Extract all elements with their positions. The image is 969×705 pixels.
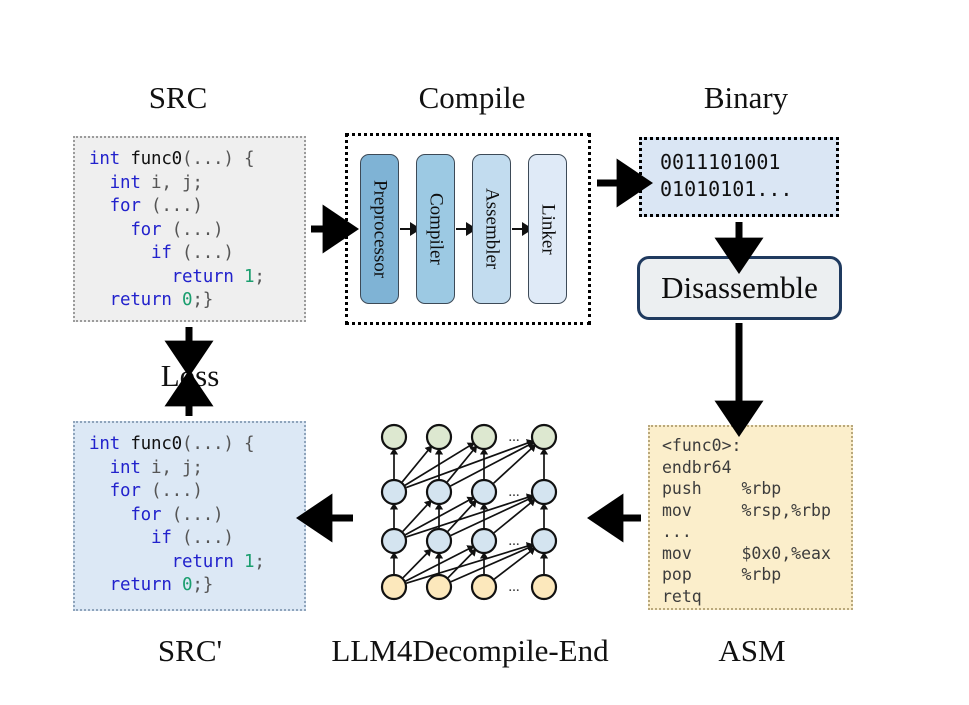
network-node <box>427 529 451 553</box>
src-code-token: int <box>89 149 130 169</box>
src-code-line: return 1; <box>89 266 304 290</box>
src-code-line: for (...) <box>89 195 304 219</box>
src-prime-code-token: 0 <box>182 575 192 595</box>
src-code-token: ; <box>254 267 264 287</box>
src-prime-code-line: for (...) <box>89 504 304 528</box>
src-prime-code-token: if <box>89 528 182 548</box>
src-code-line: int func0(...) { <box>89 148 304 172</box>
src-prime-code-token: (...) { <box>182 434 254 454</box>
compile-pipeline-container: PreprocessorCompilerAssemblerLinker <box>345 133 591 325</box>
src-prime-code-line: int i, j; <box>89 457 304 481</box>
label-binary: Binary <box>676 80 816 116</box>
compile-stage-label: Assembler <box>481 188 503 269</box>
network-edge <box>406 545 529 583</box>
neural-network-diagram: ............ <box>378 421 563 603</box>
network-node <box>427 480 451 504</box>
src-code-token: i, j; <box>151 173 203 193</box>
src-prime-code-token: (...) <box>172 505 224 525</box>
src-prime-code-token: 1 <box>244 552 254 572</box>
asm-line: retq <box>662 586 851 608</box>
asm-line: endbr64 <box>662 457 851 479</box>
src-code-token: (...) <box>172 220 224 240</box>
src-code-token: (...) <box>182 243 234 263</box>
binary-line: 0011101001 <box>660 149 836 176</box>
src-code-token: ;} <box>192 290 213 310</box>
network-ellipsis: ... <box>508 429 519 445</box>
compile-stage-assembler[interactable]: Assembler <box>472 154 511 304</box>
src-prime-code-line: if (...) <box>89 527 304 551</box>
src-code-token: for <box>89 220 172 240</box>
compile-stage-linker[interactable]: Linker <box>528 154 567 304</box>
disassemble-box: Disassemble <box>637 256 842 320</box>
compile-stage-label: Preprocessor <box>369 180 391 278</box>
src-code-line: for (...) <box>89 219 304 243</box>
network-node <box>427 425 451 449</box>
binary-line: 01010101... <box>660 176 836 203</box>
network-edge <box>406 442 530 487</box>
src-code-token: 0 <box>182 290 192 310</box>
src-prime-code-line: for (...) <box>89 480 304 504</box>
src-code-block: int func0(...) { int i, j; for (...) for… <box>73 136 306 322</box>
src-prime-code-token: int <box>89 458 151 478</box>
network-node <box>532 480 556 504</box>
src-code-line: if (...) <box>89 242 304 266</box>
src-code-token: if <box>89 243 182 263</box>
network-node <box>427 575 451 599</box>
asm-line: mov %rsp,%rbp <box>662 500 851 522</box>
asm-line: mov $0x0,%eax <box>662 543 851 565</box>
figure-canvas: SRC Compile Binary int func0(...) { int … <box>0 0 969 705</box>
network-edge <box>403 552 428 578</box>
network-edges <box>394 442 544 583</box>
disassemble-label: Disassemble <box>661 270 818 306</box>
label-compile: Compile <box>402 80 542 116</box>
network-node <box>532 575 556 599</box>
src-code-line: int i, j; <box>89 172 304 196</box>
src-code-token: func0 <box>130 149 182 169</box>
network-edge <box>403 503 429 531</box>
network-node <box>472 575 496 599</box>
network-node <box>472 480 496 504</box>
src-prime-code-token: ;} <box>192 575 213 595</box>
label-src: SRC <box>118 80 238 116</box>
src-code-token: return <box>89 267 244 287</box>
network-edge <box>402 449 429 482</box>
network-edge <box>447 449 474 482</box>
network-node <box>472 425 496 449</box>
src-prime-code-token: return <box>89 552 244 572</box>
src-prime-code-block: int func0(...) { int i, j; for (...) for… <box>73 421 306 611</box>
src-code-token: (...) { <box>182 149 254 169</box>
label-model: LLM4Decompile-End <box>300 633 640 669</box>
src-prime-code-token: (...) <box>182 528 234 548</box>
src-prime-code-token: (...) <box>151 481 203 501</box>
network-node <box>532 425 556 449</box>
src-code-token: return <box>89 290 182 310</box>
network-node <box>382 480 406 504</box>
network-ellipsis: ... <box>508 484 519 500</box>
network-node <box>532 529 556 553</box>
src-prime-code-token: func0 <box>130 434 182 454</box>
binary-block: 001110100101010101... <box>639 137 839 217</box>
src-code-line: return 0;} <box>89 289 304 313</box>
label-loss: Loss <box>130 358 250 394</box>
label-asm: ASM <box>692 633 812 669</box>
network-edge <box>406 497 529 537</box>
network-node <box>472 529 496 553</box>
src-prime-code-token: ; <box>254 552 264 572</box>
compile-stage-compiler[interactable]: Compiler <box>416 154 455 304</box>
network-ellipsis: ... <box>508 579 519 595</box>
src-code-token: (...) <box>151 196 203 216</box>
src-prime-code-token: return <box>89 575 182 595</box>
src-code-token: for <box>89 196 151 216</box>
src-prime-code-token: int <box>89 434 130 454</box>
network-node <box>382 575 406 599</box>
src-prime-code-token: i, j; <box>151 458 203 478</box>
src-prime-code-token: for <box>89 505 172 525</box>
asm-line: push %rbp <box>662 478 851 500</box>
src-prime-code-token: for <box>89 481 151 501</box>
label-src-prime: SRC' <box>130 633 250 669</box>
compile-stage-preprocessor[interactable]: Preprocessor <box>360 154 399 304</box>
src-prime-code-line: return 0;} <box>89 574 304 598</box>
asm-line: ... <box>662 521 851 543</box>
src-prime-code-line: return 1; <box>89 551 304 575</box>
network-ellipsis: ... <box>508 533 519 549</box>
network-node <box>382 529 406 553</box>
asm-block: <func0>:endbr64push %rbpmov %rsp,%rbp...… <box>648 425 853 610</box>
src-prime-code-line: int func0(...) { <box>89 433 304 457</box>
asm-line: <func0>: <box>662 435 851 457</box>
compile-stage-label: Compiler <box>425 193 447 265</box>
asm-line: pop %rbp <box>662 564 851 586</box>
src-code-token: 1 <box>244 267 254 287</box>
compile-stage-label: Linker <box>537 204 559 255</box>
src-code-token: int <box>89 173 151 193</box>
network-node <box>382 425 406 449</box>
